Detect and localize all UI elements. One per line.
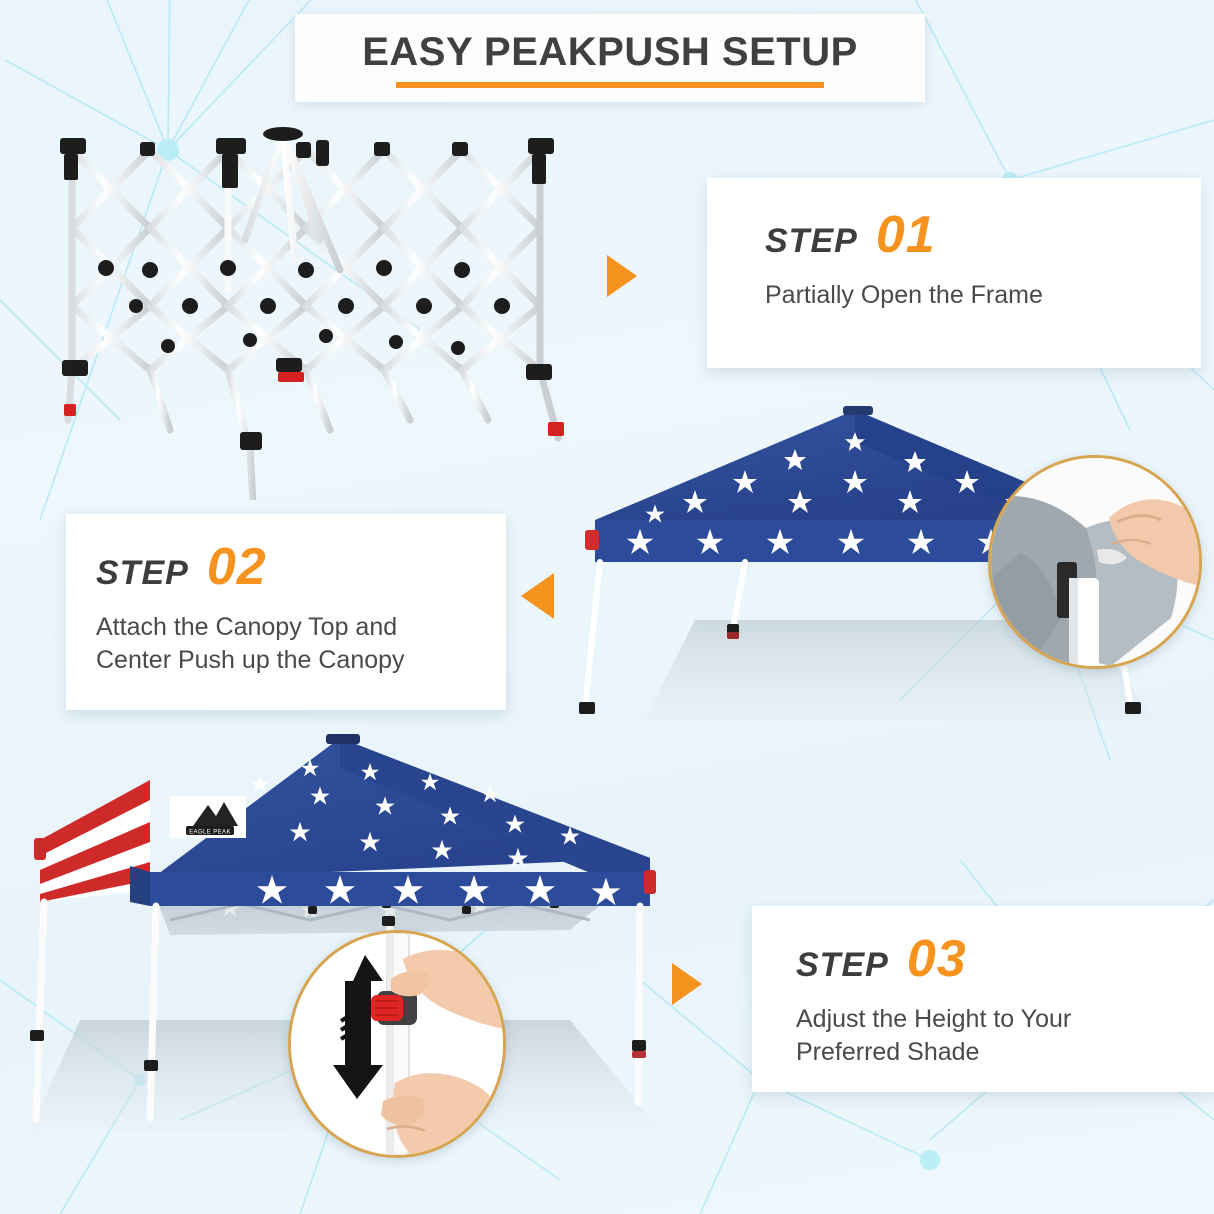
step-02-description-line2: Center Push up the Canopy bbox=[96, 644, 506, 678]
page-title-card: EASY PEAKPUSH SETUP bbox=[295, 14, 925, 102]
arrow-right-icon-step-01 bbox=[607, 255, 637, 297]
arrow-right-icon-step-03 bbox=[672, 963, 702, 1005]
step-01-heading: STEP 01 bbox=[765, 212, 1201, 259]
step-03-number: 03 bbox=[907, 936, 967, 983]
step-01-number: 01 bbox=[876, 212, 936, 259]
brand-logo-badge: EAGLE PEAK bbox=[170, 796, 246, 838]
infographic-canvas: EASY PEAKPUSH SETUP bbox=[0, 0, 1214, 1214]
step-03-description-line1: Adjust the Height to Your bbox=[796, 1003, 1214, 1037]
arrow-left-icon-step-02 bbox=[521, 573, 554, 619]
step-02-number: 02 bbox=[207, 544, 267, 591]
step-03-description-line2: Preferred Shade bbox=[796, 1036, 1214, 1070]
title-underline bbox=[396, 82, 824, 88]
step-02-description: Attach the Canopy Top and Center Push up… bbox=[96, 611, 506, 678]
page-title: EASY PEAKPUSH SETUP bbox=[362, 32, 858, 72]
step-03-detail-inset bbox=[288, 930, 506, 1158]
step-01-card: STEP 01 Partially Open the Frame bbox=[707, 178, 1201, 368]
step-02-card: STEP 02 Attach the Canopy Top and Center… bbox=[66, 514, 506, 710]
step-02-description-line1: Attach the Canopy Top and bbox=[96, 611, 506, 645]
step-02-heading: STEP 02 bbox=[96, 544, 506, 591]
step-01-description: Partially Open the Frame bbox=[765, 279, 1201, 313]
step-02-label: STEP bbox=[96, 556, 189, 590]
step-02-detail-inset bbox=[988, 455, 1202, 669]
step-03-card: STEP 03 Adjust the Height to Your Prefer… bbox=[752, 906, 1214, 1092]
step-03-description: Adjust the Height to Your Preferred Shad… bbox=[796, 1003, 1214, 1070]
step-01-label: STEP bbox=[765, 224, 858, 258]
step-01-frame-image bbox=[40, 120, 600, 500]
step-03-heading: STEP 03 bbox=[796, 936, 1214, 983]
svg-text:EAGLE PEAK: EAGLE PEAK bbox=[189, 830, 231, 836]
step-03-label: STEP bbox=[796, 948, 889, 982]
